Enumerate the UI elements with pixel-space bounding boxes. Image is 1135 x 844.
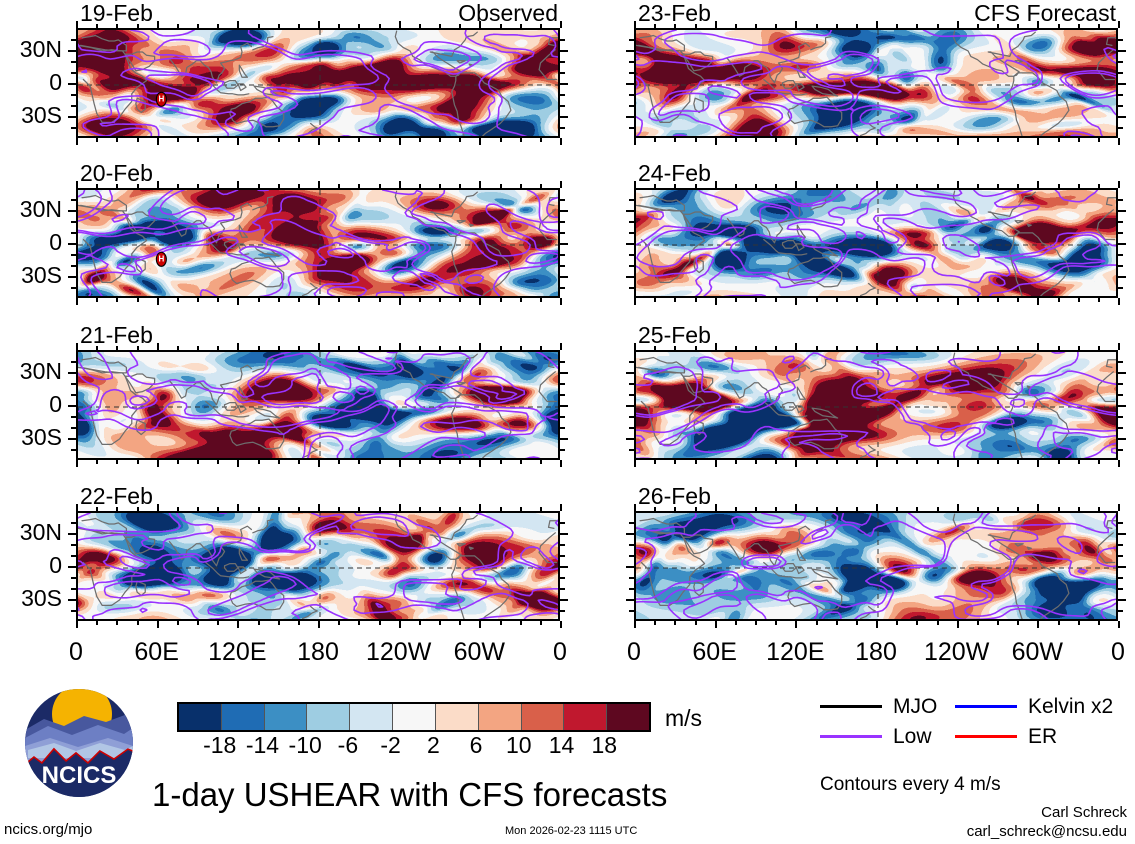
axis-tick-x — [318, 460, 320, 467]
axis-tick-x — [500, 621, 502, 625]
axis-tick-y — [629, 61, 634, 63]
axis-tick-x — [937, 346, 939, 350]
axis-tick-y — [560, 372, 568, 374]
axis-tick-x — [957, 343, 959, 350]
axis-tick-x — [358, 460, 360, 464]
axis-tick-x — [674, 621, 676, 625]
axis-tick-x — [459, 298, 461, 302]
axis-tick-x — [298, 298, 300, 302]
axis-tick-y — [1118, 221, 1123, 223]
axis-tick-y — [71, 555, 76, 557]
axis-tick-y — [629, 127, 634, 129]
axis-tick-x — [379, 24, 381, 28]
axis-tick-y — [1118, 232, 1123, 234]
axis-tick-x — [997, 24, 999, 28]
axis-tick-x — [795, 181, 797, 188]
axis-tick-x — [816, 460, 818, 464]
axis-tick-x — [896, 507, 898, 511]
axis-tick-x — [695, 298, 697, 302]
axis-tick-x — [76, 343, 78, 350]
axis-tick-x — [379, 621, 381, 625]
axis-tick-x — [540, 24, 542, 28]
axis-tick-x — [735, 298, 737, 302]
axis-tick-x — [916, 507, 918, 511]
x-axis-tick-label: 0 — [589, 640, 679, 665]
axis-tick-x — [560, 138, 562, 145]
axis-tick-x — [459, 507, 461, 511]
ncics-logo: NCICS — [20, 688, 138, 798]
axis-tick-y — [626, 438, 634, 440]
axis-tick-y — [626, 243, 634, 245]
axis-tick-x — [1078, 298, 1080, 302]
x-axis-tick-label: 60W — [992, 640, 1082, 665]
axis-tick-y — [629, 39, 634, 41]
axis-tick-x — [654, 346, 656, 350]
axis-tick-x — [654, 138, 656, 142]
panel-date-label: 21-Feb — [80, 324, 153, 347]
axis-tick-y — [629, 94, 634, 96]
axis-tick-x — [76, 138, 78, 145]
axis-tick-x — [1058, 24, 1060, 28]
axis-tick-x — [318, 138, 320, 145]
axis-tick-x — [856, 138, 858, 142]
axis-tick-x — [358, 24, 360, 28]
axis-tick-x — [634, 504, 636, 511]
axis-tick-x — [500, 298, 502, 302]
axis-tick-y — [1118, 383, 1123, 385]
axis-tick-y — [626, 372, 634, 374]
axis-tick-x — [695, 184, 697, 188]
axis-tick-x — [419, 24, 421, 28]
axis-tick-x — [1078, 507, 1080, 511]
axis-tick-y — [560, 555, 565, 557]
axis-tick-y — [626, 533, 634, 535]
axis-tick-x — [997, 460, 999, 464]
axis-tick-x — [439, 507, 441, 511]
axis-tick-x — [419, 138, 421, 142]
axis-tick-x — [836, 138, 838, 142]
axis-tick-x — [237, 181, 239, 188]
axis-tick-x — [540, 460, 542, 464]
map-panel: 26-Feb — [634, 511, 1118, 621]
axis-tick-x — [1017, 138, 1019, 142]
axis-tick-y — [1118, 72, 1123, 74]
site-url[interactable]: ncics.org/mjo — [4, 822, 92, 837]
axis-tick-y — [560, 105, 565, 107]
axis-tick-x — [157, 343, 159, 350]
y-axis-tick-label: 30S — [0, 264, 62, 287]
axis-tick-x — [735, 184, 737, 188]
axis-tick-x — [1058, 184, 1060, 188]
axis-tick-x — [338, 346, 340, 350]
axis-tick-x — [957, 621, 959, 628]
axis-tick-y — [629, 416, 634, 418]
axis-tick-x — [96, 507, 98, 511]
axis-tick-x — [157, 504, 159, 511]
axis-tick-y — [1118, 522, 1123, 524]
axis-tick-x — [439, 346, 441, 350]
axis-tick-x — [634, 298, 636, 305]
axis-tick-x — [816, 507, 818, 511]
axis-tick-x — [278, 138, 280, 142]
axis-tick-y — [1118, 555, 1123, 557]
axis-tick-x — [856, 507, 858, 511]
axis-tick-x — [379, 184, 381, 188]
axis-tick-y — [560, 39, 565, 41]
axis-tick-x — [479, 138, 481, 145]
colorbar-swatch — [479, 704, 522, 730]
axis-tick-y — [1118, 577, 1123, 579]
axis-tick-x — [856, 24, 858, 28]
axis-tick-x — [399, 21, 401, 28]
axis-tick-x — [278, 460, 280, 464]
legend-line-swatch — [820, 735, 882, 738]
axis-tick-x — [795, 621, 797, 628]
axis-tick-x — [634, 138, 636, 145]
axis-tick-x — [775, 460, 777, 464]
author-email[interactable]: carl_schreck@ncsu.edu — [967, 824, 1127, 839]
axis-tick-y — [629, 427, 634, 429]
axis-tick-y — [1118, 544, 1123, 546]
axis-tick-y — [1118, 61, 1123, 63]
axis-tick-x — [977, 507, 979, 511]
axis-tick-x — [755, 138, 757, 142]
axis-tick-x — [197, 298, 199, 302]
axis-tick-x — [459, 346, 461, 350]
figure-root: 19-FebObserved30N030S20-Feb30N030S21-Feb… — [0, 0, 1135, 844]
axis-tick-y — [626, 566, 634, 568]
axis-tick-x — [379, 298, 381, 302]
page-title: 1-day USHEAR with CFS forecasts — [152, 778, 667, 811]
map-field-canvas — [636, 513, 1118, 621]
legend-label: Kelvin x2 — [1028, 696, 1113, 717]
axis-tick-x — [876, 298, 878, 305]
axis-tick-y — [629, 544, 634, 546]
axis-tick-x — [735, 346, 737, 350]
axis-tick-x — [500, 184, 502, 188]
axis-tick-x — [237, 504, 239, 511]
axis-tick-x — [775, 298, 777, 302]
axis-tick-x — [1037, 343, 1039, 350]
axis-tick-y — [629, 588, 634, 590]
axis-tick-x — [634, 343, 636, 350]
column-header: Observed — [458, 2, 558, 25]
axis-tick-x — [197, 346, 199, 350]
axis-tick-x — [1058, 621, 1060, 625]
axis-tick-y — [560, 127, 565, 129]
axis-tick-x — [1017, 346, 1019, 350]
axis-tick-x — [795, 21, 797, 28]
axis-tick-x — [916, 24, 918, 28]
x-axis-tick-label: 180 — [273, 640, 363, 665]
axis-tick-x — [177, 184, 179, 188]
axis-tick-x — [258, 507, 260, 511]
axis-tick-x — [116, 298, 118, 302]
axis-tick-x — [338, 507, 340, 511]
axis-tick-x — [137, 507, 139, 511]
axis-tick-x — [298, 507, 300, 511]
axis-tick-x — [217, 184, 219, 188]
axis-tick-x — [217, 460, 219, 464]
axis-tick-x — [560, 21, 562, 28]
axis-tick-y — [71, 610, 76, 612]
colorbar-swatch — [179, 704, 222, 730]
axis-tick-x — [937, 138, 939, 142]
axis-tick-x — [540, 138, 542, 142]
axis-tick-x — [197, 507, 199, 511]
axis-tick-x — [876, 21, 878, 28]
axis-tick-y — [629, 361, 634, 363]
map-panel: 25-Feb — [634, 350, 1118, 460]
axis-tick-x — [876, 504, 878, 511]
legend-item: Low — [820, 726, 932, 747]
axis-tick-y — [1118, 39, 1123, 41]
axis-tick-x — [258, 184, 260, 188]
axis-tick-x — [197, 621, 199, 625]
axis-tick-x — [916, 298, 918, 302]
axis-tick-x — [816, 138, 818, 142]
axis-tick-x — [76, 621, 78, 628]
axis-tick-y — [71, 232, 76, 234]
map-panel: 21-Feb — [76, 350, 560, 460]
axis-tick-x — [237, 621, 239, 628]
axis-tick-x — [997, 507, 999, 511]
axis-tick-y — [68, 566, 76, 568]
axis-tick-x — [1017, 460, 1019, 464]
axis-tick-y — [629, 254, 634, 256]
axis-tick-x — [177, 138, 179, 142]
map-plot-area — [76, 28, 560, 138]
axis-tick-x — [217, 298, 219, 302]
axis-tick-x — [1098, 298, 1100, 302]
axis-tick-y — [560, 210, 568, 212]
axis-tick-y — [68, 210, 76, 212]
axis-tick-x — [755, 298, 757, 302]
axis-tick-y — [626, 83, 634, 85]
axis-tick-x — [439, 621, 441, 625]
axis-tick-x — [298, 138, 300, 142]
panel-date-label: 23-Feb — [638, 2, 711, 25]
axis-tick-x — [695, 24, 697, 28]
axis-tick-x — [1058, 460, 1060, 464]
axis-tick-x — [479, 621, 481, 628]
axis-tick-y — [1118, 265, 1123, 267]
colorbar-unit-label: m/s — [665, 707, 702, 730]
axis-tick-x — [157, 21, 159, 28]
axis-tick-x — [1098, 138, 1100, 142]
axis-tick-x — [358, 346, 360, 350]
axis-tick-x — [654, 507, 656, 511]
axis-tick-x — [96, 621, 98, 625]
x-axis-tick-label: 60E — [112, 640, 202, 665]
y-axis-tick-label: 30N — [0, 360, 62, 383]
axis-tick-x — [338, 184, 340, 188]
axis-tick-x — [816, 346, 818, 350]
axis-tick-y — [626, 276, 634, 278]
map-field-canvas — [636, 352, 1118, 460]
axis-tick-x — [419, 460, 421, 464]
map-plot-area — [634, 28, 1118, 138]
axis-tick-x — [836, 298, 838, 302]
axis-tick-y — [560, 533, 568, 535]
axis-tick-x — [715, 21, 717, 28]
axis-tick-y — [1118, 394, 1123, 396]
axis-tick-y — [71, 544, 76, 546]
map-panel: 24-Feb — [634, 188, 1118, 298]
axis-tick-y — [560, 287, 565, 289]
timestamp: Mon 2026-02-23 1115 UTC — [505, 826, 637, 837]
axis-tick-y — [626, 405, 634, 407]
axis-tick-x — [1017, 621, 1019, 625]
axis-tick-x — [258, 138, 260, 142]
colorbar-swatch — [607, 704, 649, 730]
axis-tick-y — [560, 243, 568, 245]
axis-tick-y — [560, 276, 568, 278]
axis-tick-x — [937, 24, 939, 28]
axis-tick-y — [560, 83, 568, 85]
axis-tick-y — [560, 254, 565, 256]
axis-tick-x — [1037, 138, 1039, 145]
axis-tick-y — [68, 50, 76, 52]
axis-tick-y — [71, 105, 76, 107]
axis-tick-x — [816, 24, 818, 28]
axis-tick-x — [856, 460, 858, 464]
axis-tick-x — [177, 346, 179, 350]
axis-tick-y — [1118, 210, 1126, 212]
axis-tick-x — [1098, 621, 1100, 625]
axis-tick-y — [626, 599, 634, 601]
axis-tick-x — [896, 460, 898, 464]
axis-tick-x — [856, 621, 858, 625]
axis-tick-x — [520, 346, 522, 350]
axis-tick-x — [695, 460, 697, 464]
map-plot-area — [76, 188, 560, 298]
axis-tick-x — [755, 346, 757, 350]
axis-tick-x — [96, 298, 98, 302]
axis-tick-y — [68, 83, 76, 85]
axis-tick-y — [71, 221, 76, 223]
y-axis-tick-label: 0 — [0, 393, 62, 416]
axis-tick-x — [1078, 24, 1080, 28]
axis-tick-x — [1078, 184, 1080, 188]
axis-tick-x — [1118, 504, 1120, 511]
axis-tick-x — [459, 184, 461, 188]
axis-tick-y — [629, 383, 634, 385]
axis-tick-x — [278, 507, 280, 511]
axis-tick-x — [500, 346, 502, 350]
axis-tick-x — [479, 460, 481, 467]
axis-tick-x — [338, 24, 340, 28]
axis-tick-x — [1078, 138, 1080, 142]
axis-tick-y — [560, 265, 565, 267]
axis-tick-x — [997, 138, 999, 142]
axis-tick-x — [896, 184, 898, 188]
axis-tick-y — [68, 116, 76, 118]
axis-tick-x — [560, 181, 562, 188]
axis-tick-x — [318, 298, 320, 305]
y-axis-tick-label: 30N — [0, 521, 62, 544]
axis-tick-x — [816, 298, 818, 302]
y-axis-tick-label: 30S — [0, 587, 62, 610]
axis-tick-x — [1017, 507, 1019, 511]
axis-tick-x — [379, 460, 381, 464]
axis-tick-x — [540, 298, 542, 302]
axis-tick-x — [217, 621, 219, 625]
axis-tick-x — [695, 507, 697, 511]
colorbar-swatch — [564, 704, 607, 730]
x-axis-tick-label: 0 — [31, 640, 121, 665]
axis-tick-x — [1118, 21, 1120, 28]
axis-tick-x — [237, 21, 239, 28]
axis-tick-x — [76, 460, 78, 467]
axis-tick-x — [76, 298, 78, 305]
axis-tick-y — [560, 522, 565, 524]
axis-tick-x — [419, 507, 421, 511]
axis-tick-x — [876, 181, 878, 188]
axis-tick-x — [479, 181, 481, 188]
axis-tick-y — [68, 405, 76, 407]
axis-tick-y — [560, 416, 565, 418]
legend-item: Kelvin x2 — [955, 696, 1113, 717]
axis-tick-x — [137, 24, 139, 28]
colorbar-swatch — [307, 704, 350, 730]
map-plot-area — [634, 350, 1118, 460]
axis-tick-y — [1118, 361, 1123, 363]
axis-tick-x — [836, 24, 838, 28]
axis-tick-x — [1098, 184, 1100, 188]
axis-tick-x — [560, 298, 562, 305]
axis-tick-x — [237, 138, 239, 145]
axis-tick-x — [654, 298, 656, 302]
axis-tick-y — [71, 127, 76, 129]
axis-tick-x — [1118, 181, 1120, 188]
axis-tick-y — [71, 94, 76, 96]
axis-tick-x — [399, 181, 401, 188]
axis-tick-y — [1118, 416, 1123, 418]
x-axis-tick-label: 60E — [670, 640, 760, 665]
axis-tick-x — [258, 621, 260, 625]
axis-tick-x — [755, 184, 757, 188]
axis-tick-x — [157, 138, 159, 145]
legend-line-swatch — [955, 705, 1017, 708]
axis-tick-x — [217, 346, 219, 350]
colorbar-swatch — [393, 704, 436, 730]
y-axis-tick-label: 30N — [0, 38, 62, 61]
axis-tick-y — [626, 210, 634, 212]
axis-tick-x — [735, 24, 737, 28]
axis-tick-x — [775, 24, 777, 28]
axis-tick-y — [68, 243, 76, 245]
axis-tick-x — [157, 460, 159, 467]
axis-tick-x — [338, 621, 340, 625]
axis-tick-x — [500, 24, 502, 28]
axis-tick-y — [629, 555, 634, 557]
axis-tick-x — [1037, 21, 1039, 28]
axis-tick-x — [419, 298, 421, 302]
axis-tick-x — [715, 181, 717, 188]
axis-tick-x — [755, 460, 757, 464]
axis-tick-x — [1058, 138, 1060, 142]
axis-tick-x — [318, 504, 320, 511]
axis-tick-x — [338, 298, 340, 302]
map-field-canvas — [636, 190, 1118, 298]
legend-label: MJO — [893, 696, 937, 717]
axis-tick-x — [654, 24, 656, 28]
colorbar-swatch — [350, 704, 393, 730]
axis-tick-y — [71, 522, 76, 524]
axis-tick-x — [96, 346, 98, 350]
axis-tick-x — [520, 184, 522, 188]
